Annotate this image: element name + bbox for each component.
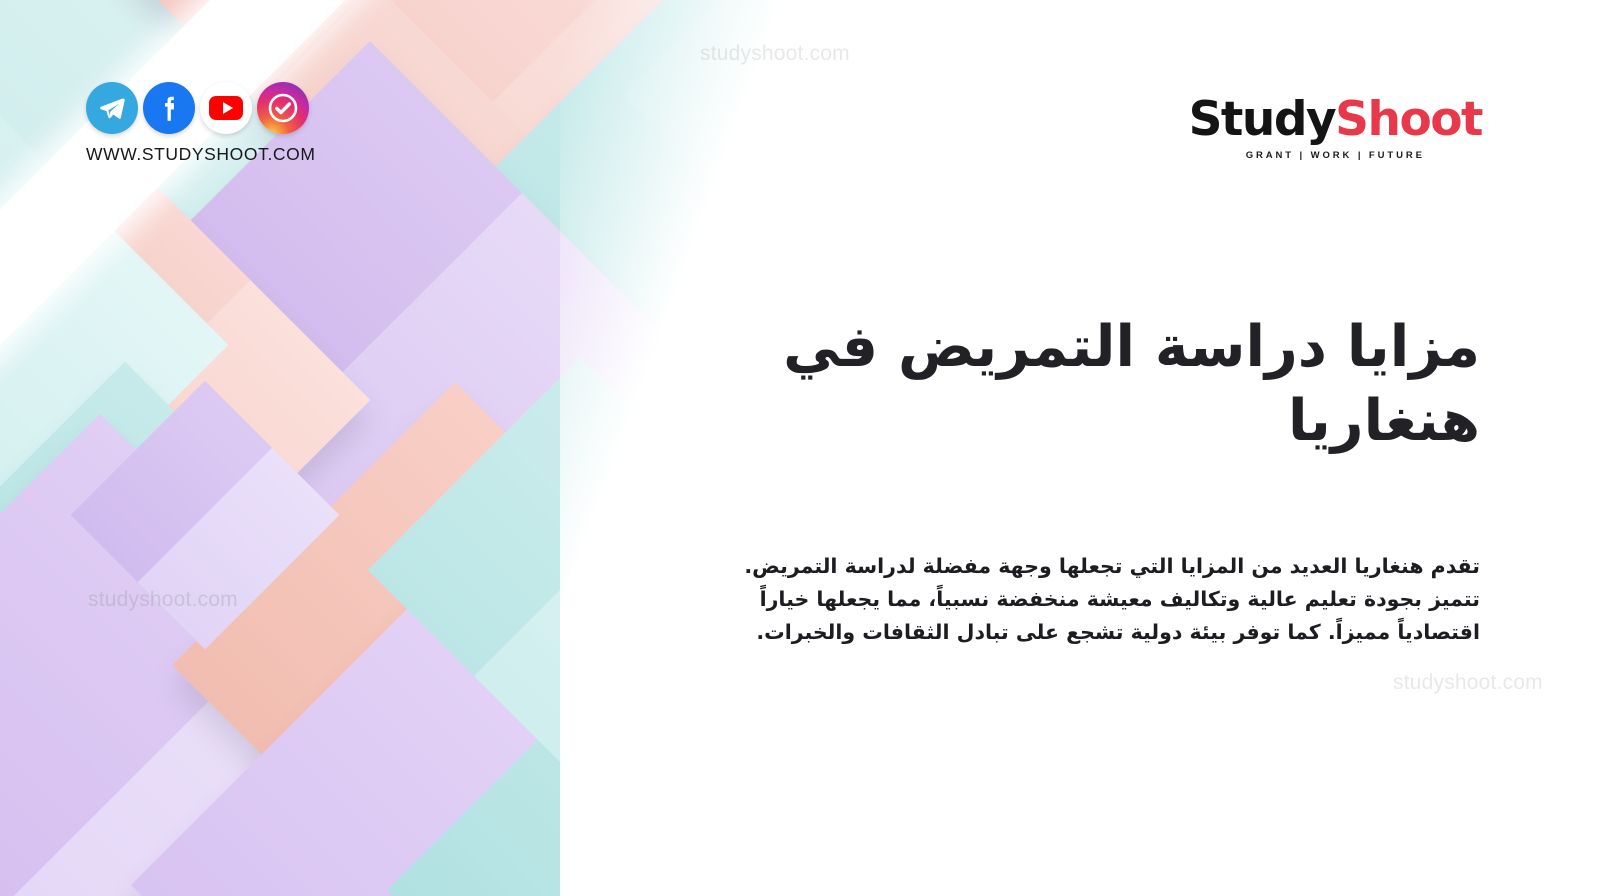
logo-word-shoot: Shoot (1335, 92, 1482, 147)
content-block: مزايا دراسة التمريض في هنغاريا تقدم هنغا… (720, 310, 1480, 649)
youtube-play-badge (209, 96, 243, 120)
page-title: مزايا دراسة التمريض في هنغاريا (720, 310, 1480, 458)
verified-check-icon[interactable] (257, 82, 309, 134)
play-triangle-icon (223, 102, 233, 114)
social-links-cluster: WWW.STUDYSHOOT.COM (86, 82, 316, 165)
logo-wordmark: StudyShoot (1189, 96, 1482, 143)
studyshoot-logo: StudyShoot GRANT | WORK | FUTURE (1189, 96, 1482, 161)
youtube-icon[interactable] (200, 82, 252, 134)
slide-canvas: WWW.STUDYSHOOT.COM StudyShoot GRANT | WO… (0, 0, 1600, 896)
website-url-label: WWW.STUDYSHOOT.COM (86, 144, 316, 165)
body-paragraph: تقدم هنغاريا العديد من المزايا التي تجعل… (720, 550, 1480, 648)
social-icon-row (86, 82, 316, 134)
facebook-icon[interactable] (143, 82, 195, 134)
telegram-icon[interactable] (86, 82, 138, 134)
logo-tagline: GRANT | WORK | FUTURE (1189, 150, 1482, 161)
logo-word-study: Study (1189, 92, 1336, 147)
